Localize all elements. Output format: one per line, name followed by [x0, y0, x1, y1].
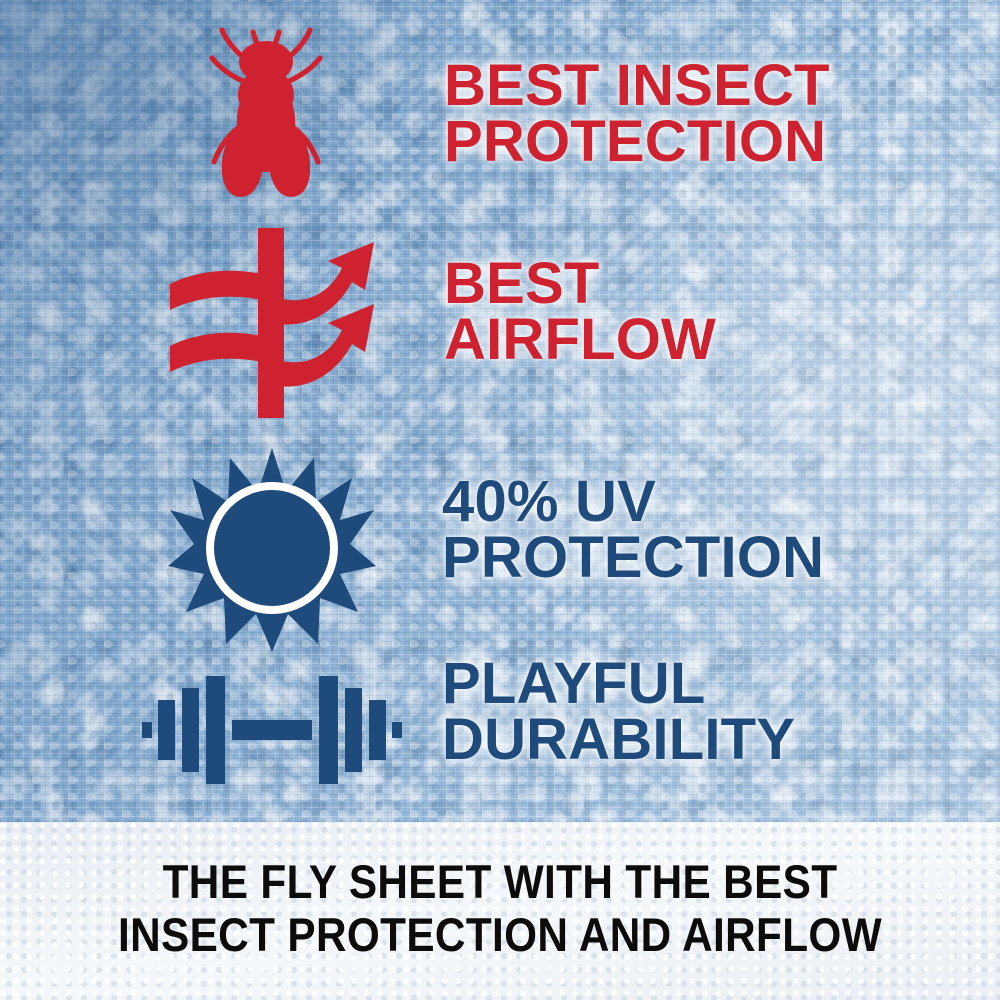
feature-label-durability: PLAYFUL DURABILITY	[442, 656, 982, 769]
feature-label-airflow: BEST AIRFLOW	[444, 256, 964, 369]
dumbbell-icon	[142, 672, 402, 788]
infographic-canvas: BEST INSECT PROTECTION BEST AIRFLOW 40% …	[0, 0, 1000, 1000]
airflow-through-fabric-icon	[166, 228, 382, 418]
feature-label-insect-protection: BEST INSECT PROTECTION	[444, 58, 964, 171]
caption-band: THE FLY SHEET WITH THE BEST INSECT PROTE…	[0, 822, 1000, 1000]
fly-icon	[196, 22, 336, 204]
caption-text: THE FLY SHEET WITH THE BEST INSECT PROTE…	[50, 855, 950, 961]
sun-uv-icon	[168, 448, 376, 652]
feature-label-uv-protection: 40% UV PROTECTION	[442, 474, 962, 587]
